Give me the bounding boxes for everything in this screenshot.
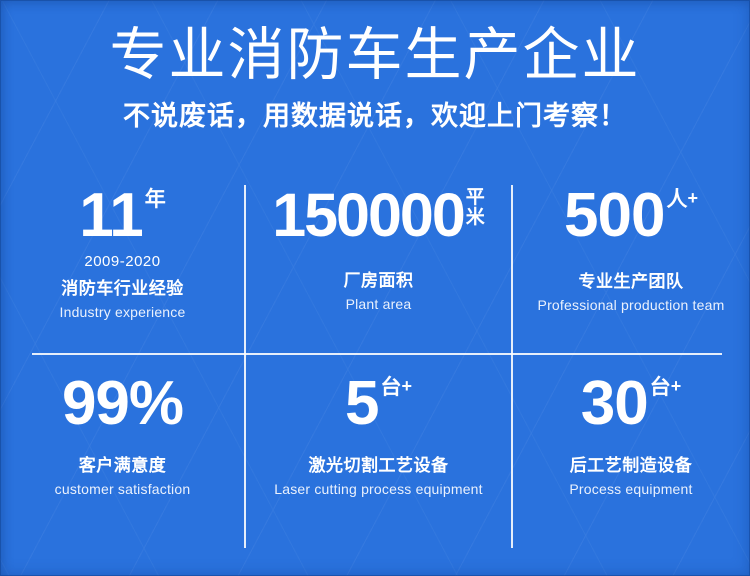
stat-cell-plant-area: 150000 平 米 厂房面积 Plant area (245, 176, 512, 354)
stat-value-row: 150000 平 米 (272, 186, 485, 246)
stat-value-row: 11 年 (79, 186, 166, 247)
stat-label-en: customer satisfaction (55, 481, 191, 497)
stat-unit-plus: + (671, 377, 682, 395)
stat-unit-line-2: 米 (466, 208, 485, 228)
stat-cell-production-team: 500 人 + 专业生产团队 Professional production t… (512, 176, 750, 354)
stats-grid: 11 年 2009-2020 消防车行业经验 Industry experien… (0, 176, 750, 552)
stat-unit: 平 米 (466, 188, 485, 228)
stat-value-row: 99% (62, 374, 183, 435)
stat-label-cn: 厂房面积 (344, 266, 414, 291)
stat-cell-laser-cutting-equipment: 5 台 + 激光切割工艺设备 Laser cutting process equ… (245, 354, 512, 532)
stat-label-cn: 消防车行业经验 (61, 274, 184, 299)
stat-label-cn: 激光切割工艺设备 (309, 451, 449, 476)
stat-unit-text: 人 (666, 189, 687, 210)
page-subtitle: 不说废话，用数据说话，欢迎上门考察！ (0, 100, 750, 132)
stat-label-en: Plant area (346, 296, 412, 312)
stat-label-cn: 专业生产团队 (579, 267, 684, 292)
stat-unit: 年 (145, 189, 166, 210)
stat-value-row: 500 人 + (564, 186, 698, 247)
stat-label-en: Laser cutting process equipment (274, 481, 483, 497)
stat-number: 5 (345, 374, 378, 435)
stat-year-range: 2009-2020 (84, 253, 160, 270)
stat-label-en: Professional production team (538, 297, 725, 313)
stat-label-en: Industry experience (60, 304, 186, 320)
stat-unit-text: 台 (650, 377, 671, 398)
stat-number: 30 (581, 374, 648, 435)
stat-unit-text: 台 (380, 377, 401, 398)
stat-unit: 台 + (650, 377, 682, 398)
stat-unit-plus: + (687, 189, 698, 207)
stat-unit-plus: + (401, 377, 412, 395)
stat-number: 11 (79, 186, 143, 247)
promo-poster: 专业消防车生产企业 不说废话，用数据说话，欢迎上门考察！ 11 年 2009-2… (0, 0, 750, 576)
stat-number: 99% (62, 374, 183, 435)
stat-unit-line-1: 平 (466, 188, 485, 208)
stat-cell-industry-experience: 11 年 2009-2020 消防车行业经验 Industry experien… (0, 176, 245, 354)
poster-header: 专业消防车生产企业 不说废话，用数据说话，欢迎上门考察！ (0, 0, 750, 132)
stat-cell-process-equipment: 30 台 + 后工艺制造设备 Process equipment (512, 354, 750, 532)
stat-label-cn: 客户满意度 (79, 451, 167, 476)
page-title: 专业消防车生产企业 (0, 24, 750, 88)
stat-value-row: 5 台 + (345, 374, 412, 435)
stat-value-row: 30 台 + (581, 374, 681, 435)
stat-unit: 人 + (666, 189, 698, 210)
stat-label-en: Process equipment (569, 481, 692, 497)
stat-label-cn: 后工艺制造设备 (570, 451, 693, 476)
stat-cell-customer-satisfaction: 99% 客户满意度 customer satisfaction (0, 354, 245, 532)
stat-unit: 台 + (380, 377, 412, 398)
stat-number: 500 (564, 186, 664, 247)
stat-number: 150000 (272, 186, 464, 246)
